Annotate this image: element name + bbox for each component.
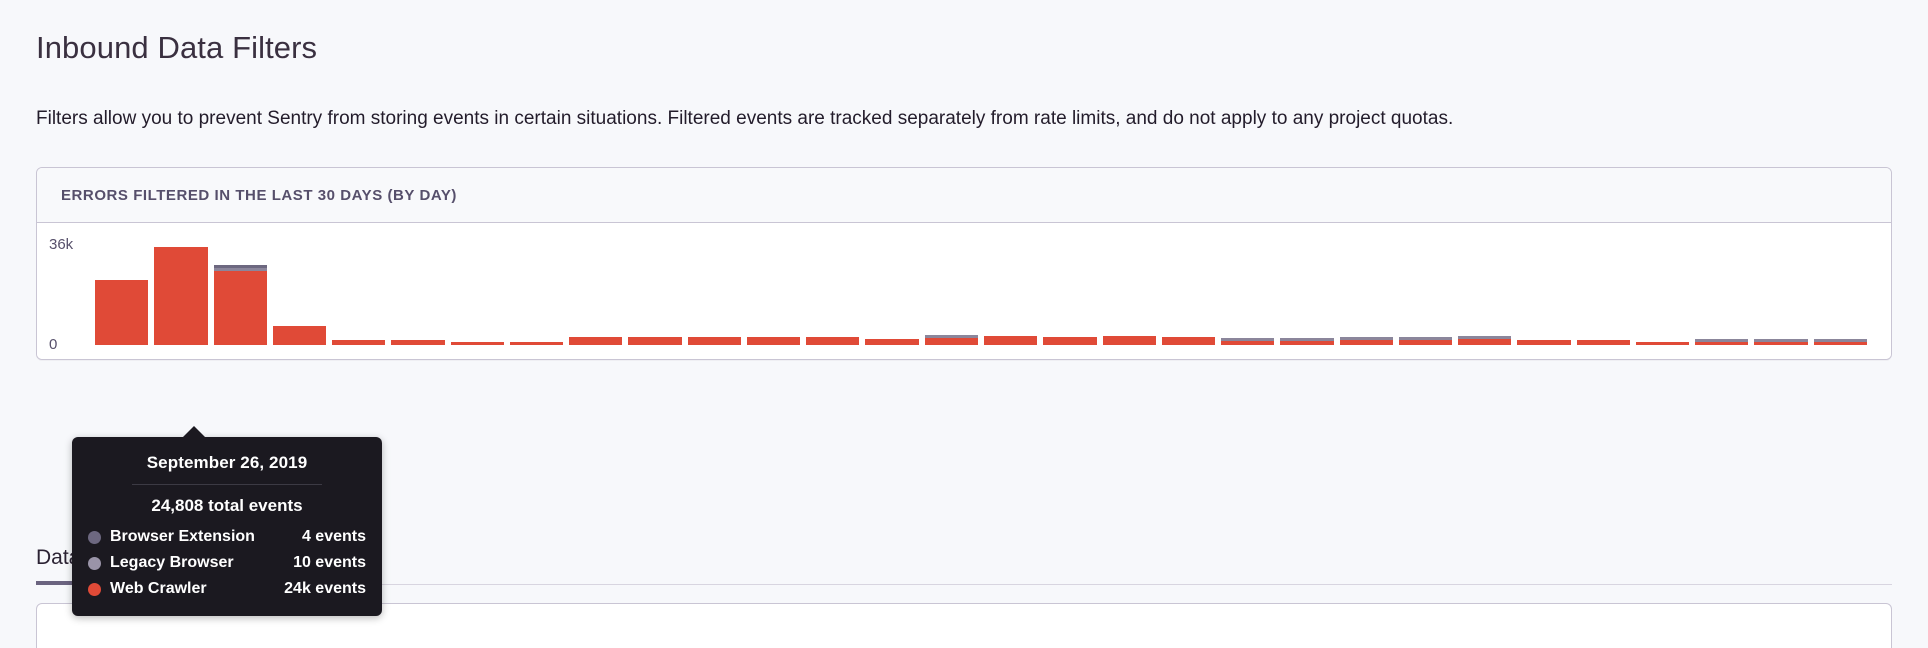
legend-dot-icon (88, 583, 101, 596)
tooltip-row-value: 10 events (293, 554, 366, 572)
tooltip-row: Web Crawler24k events (88, 576, 366, 602)
bar-segment (391, 340, 444, 345)
bar-segment (1043, 337, 1096, 345)
bar-column[interactable] (1814, 237, 1867, 345)
bar-column[interactable] (1577, 237, 1630, 345)
bar-segment (628, 337, 681, 345)
bar-segment (1695, 342, 1748, 345)
bar-segment (510, 342, 563, 345)
bar-segment (1517, 340, 1570, 345)
legend-dot-icon (88, 531, 101, 544)
bar-column[interactable] (1399, 237, 1452, 345)
bar-segment (865, 339, 918, 345)
bar-segment (1636, 342, 1689, 345)
bar-segment (214, 271, 267, 345)
bar-column[interactable] (1458, 237, 1511, 345)
tooltip-row: Browser Extension4 events (88, 524, 366, 550)
tooltip-series-rows: Browser Extension4 eventsLegacy Browser1… (72, 524, 382, 602)
bar-column[interactable] (332, 237, 385, 345)
bar-column[interactable] (214, 237, 267, 345)
bar-column[interactable] (273, 237, 326, 345)
errors-filtered-chart-card: ERRORS FILTERED IN THE LAST 30 DAYS (BY … (36, 167, 1892, 360)
bar-column[interactable] (569, 237, 622, 345)
bar-column[interactable] (1340, 237, 1393, 345)
bar-segment (1577, 340, 1630, 345)
y-axis-max-label: 36k (49, 236, 73, 253)
tooltip-row-value: 4 events (302, 528, 366, 546)
chart-tooltip: September 26, 2019 24,808 total events B… (72, 437, 382, 616)
bar-segment (1103, 336, 1156, 345)
bar-segment (154, 247, 207, 345)
bar-column[interactable] (1754, 237, 1807, 345)
bar-column[interactable] (451, 237, 504, 345)
bar-column[interactable] (95, 237, 148, 345)
y-axis-min-label: 0 (49, 336, 57, 353)
chart-card-header: ERRORS FILTERED IN THE LAST 30 DAYS (BY … (37, 168, 1891, 223)
bar-column[interactable] (510, 237, 563, 345)
bar-segment (451, 342, 504, 345)
bar-column[interactable] (1162, 237, 1215, 345)
tooltip-total-events: 24,808 total events (132, 484, 322, 516)
bar-column[interactable] (1221, 237, 1274, 345)
bar-segment (332, 340, 385, 345)
chart-card-title: ERRORS FILTERED IN THE LAST 30 DAYS (BY … (61, 187, 1867, 204)
page-title: Inbound Data Filters (36, 0, 1892, 68)
bar-segment (747, 337, 800, 345)
tooltip-row-label: Web Crawler (110, 580, 207, 598)
tooltip-arrow-icon (182, 426, 206, 438)
tooltip-row-value: 24k events (284, 580, 366, 598)
bar-segment (1814, 342, 1867, 345)
bar-column[interactable] (925, 237, 978, 345)
bar-column[interactable] (154, 237, 207, 345)
tooltip-row-label: Legacy Browser (110, 554, 234, 572)
bar-chart[interactable] (95, 237, 1867, 345)
bar-segment (1754, 342, 1807, 345)
bar-column[interactable] (391, 237, 444, 345)
bar-column[interactable] (806, 237, 859, 345)
bar-column[interactable] (1280, 237, 1333, 345)
bar-column[interactable] (984, 237, 1037, 345)
bar-column[interactable] (747, 237, 800, 345)
bar-segment (95, 280, 148, 345)
tooltip-row-label: Browser Extension (110, 528, 255, 546)
bar-column[interactable] (688, 237, 741, 345)
bar-segment (1399, 340, 1452, 345)
bar-segment (806, 337, 859, 345)
page-description: Filters allow you to prevent Sentry from… (36, 104, 1892, 135)
bar-column[interactable] (1695, 237, 1748, 345)
bar-segment (1340, 340, 1393, 345)
bar-segment (688, 337, 741, 345)
bar-column[interactable] (1517, 237, 1570, 345)
tooltip-row: Legacy Browser10 events (88, 550, 366, 576)
bar-segment (1458, 339, 1511, 345)
legend-dot-icon (88, 557, 101, 570)
bar-column[interactable] (1043, 237, 1096, 345)
bar-segment (1162, 337, 1215, 345)
bar-segment (273, 326, 326, 345)
bar-segment (1280, 341, 1333, 345)
bar-column[interactable] (1103, 237, 1156, 345)
chart-plot-area[interactable]: 36k 0 (37, 223, 1891, 359)
bar-column[interactable] (865, 237, 918, 345)
bar-segment (569, 337, 622, 345)
bar-segment (925, 338, 978, 345)
bar-column[interactable] (1636, 237, 1689, 345)
bar-segment (984, 336, 1037, 345)
bar-column[interactable] (628, 237, 681, 345)
bar-segment (1221, 341, 1274, 345)
tooltip-date: September 26, 2019 (72, 453, 382, 484)
